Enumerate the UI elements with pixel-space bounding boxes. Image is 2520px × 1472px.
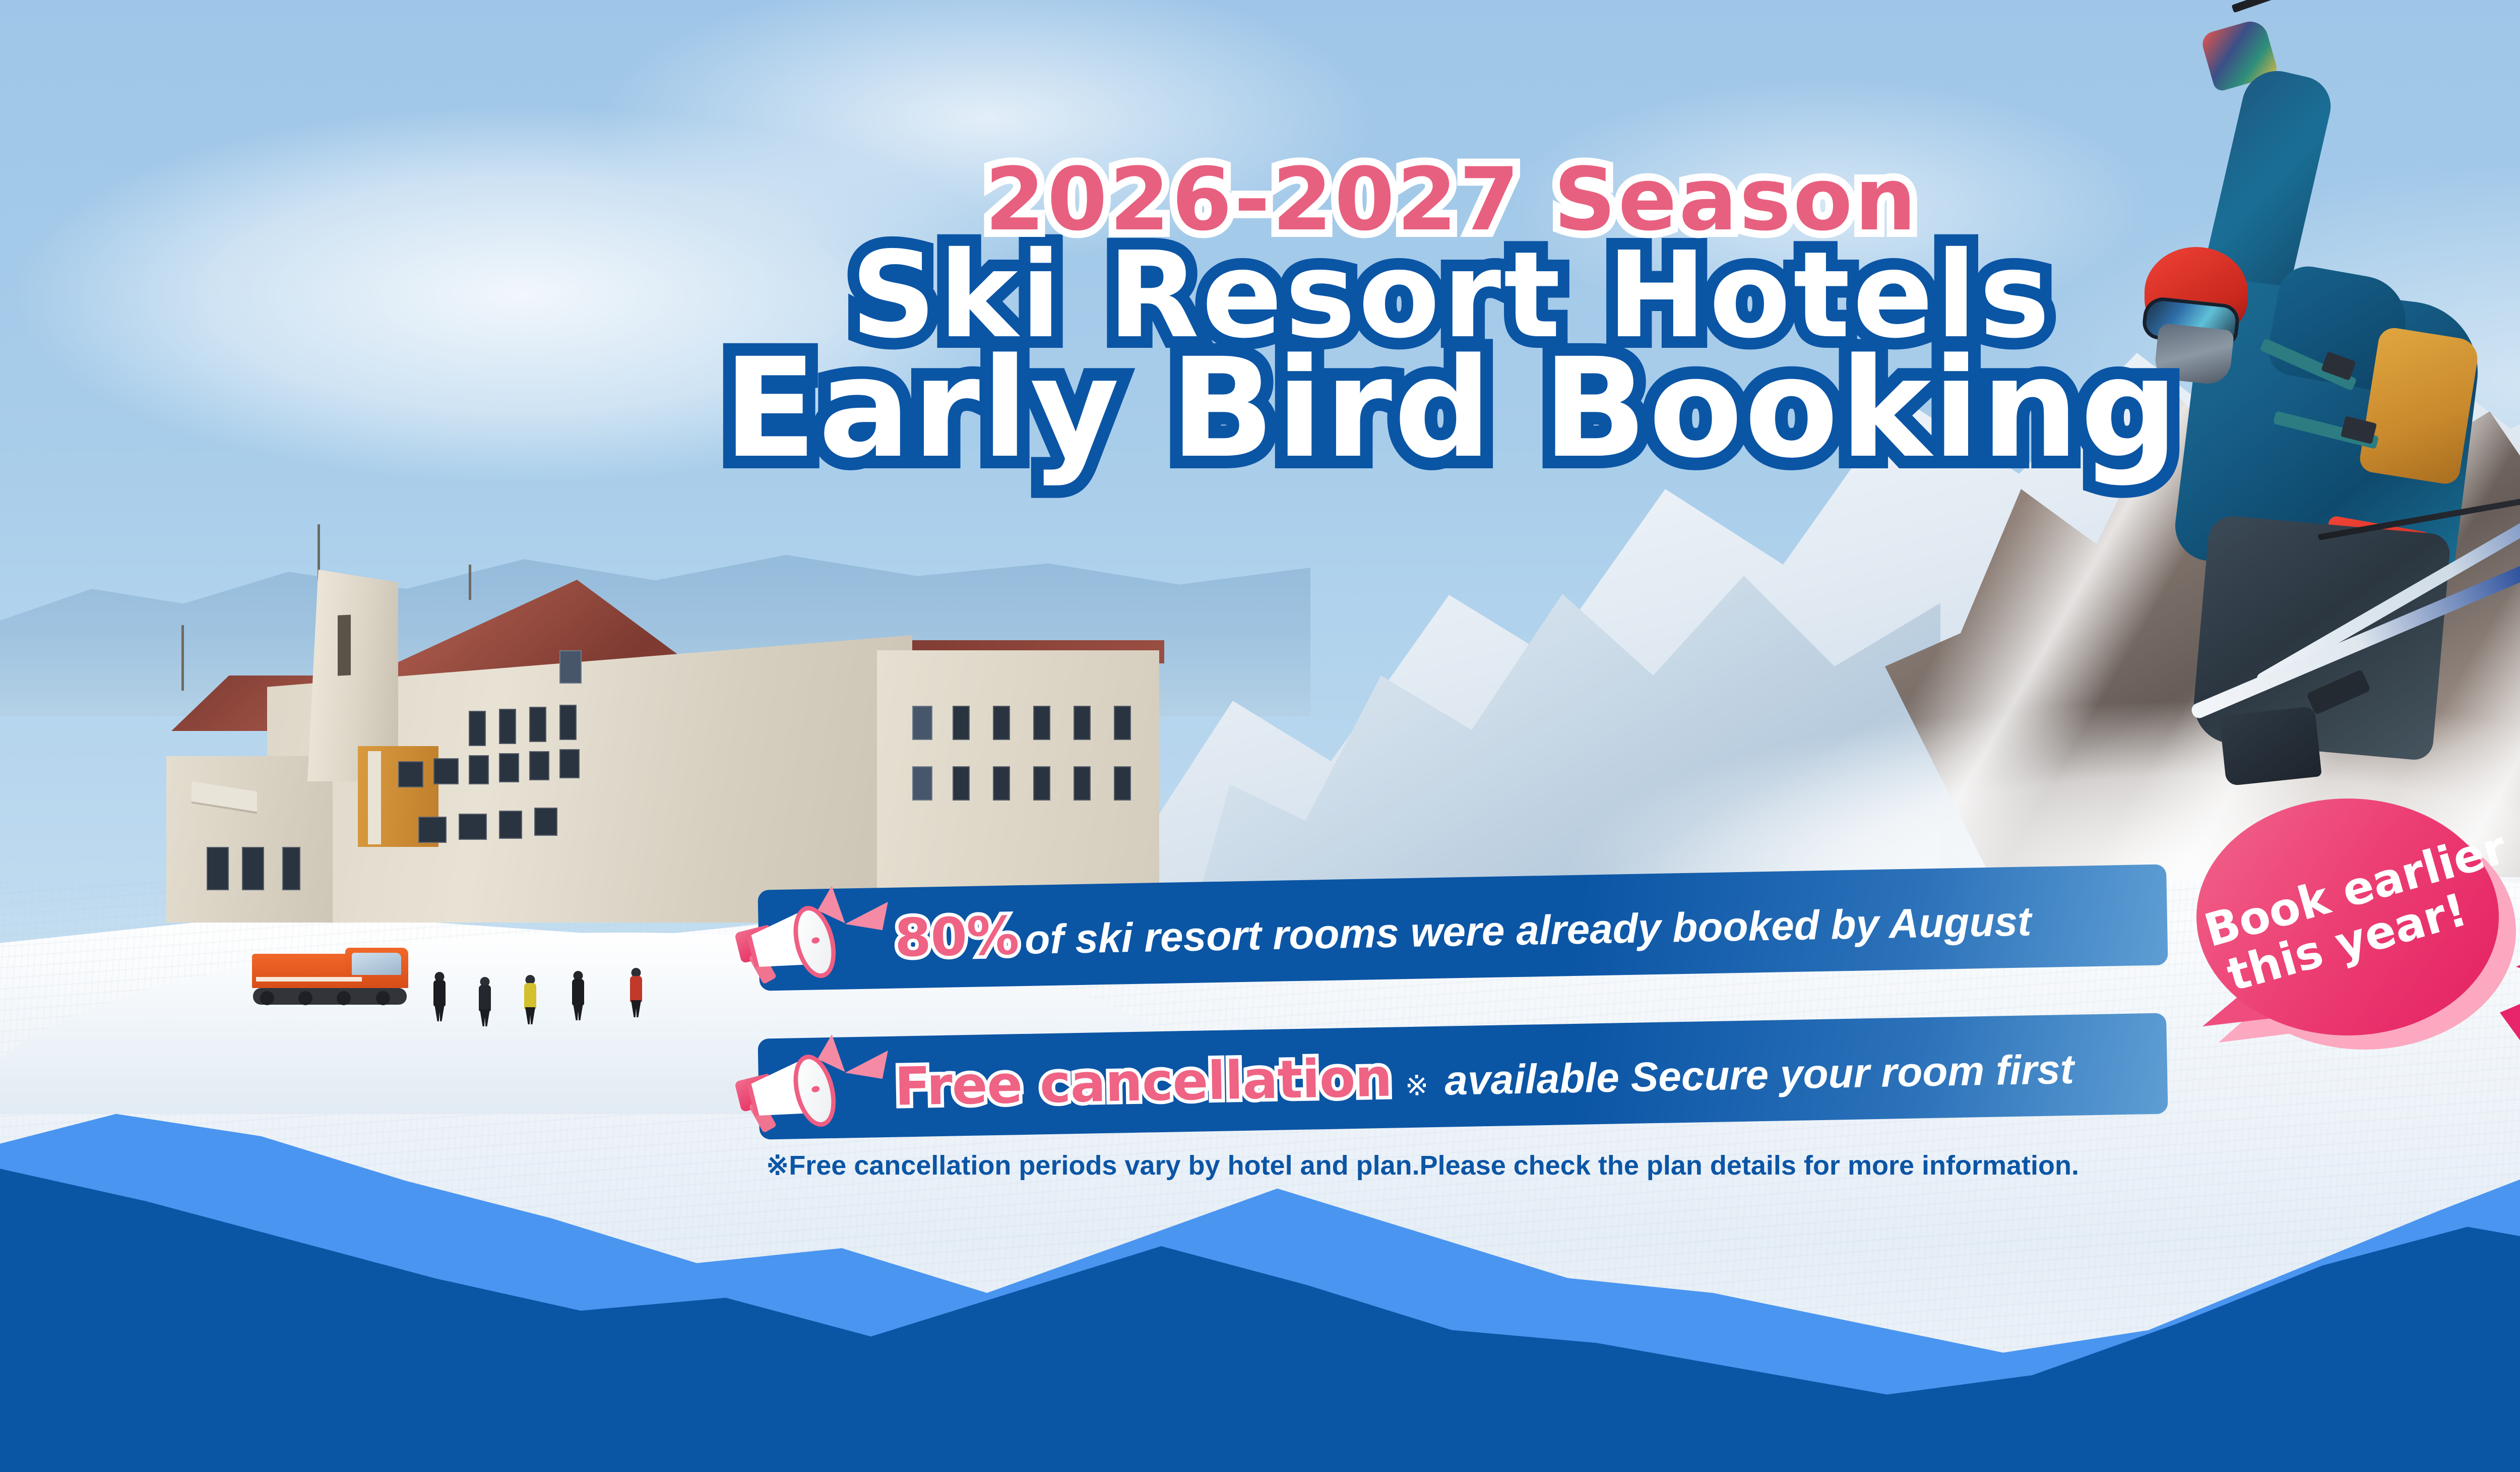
hotel-window [433, 758, 459, 784]
skier-figure [524, 975, 536, 1023]
hotel-window [559, 650, 582, 684]
skier-figure [630, 968, 642, 1016]
megaphone-icon [728, 1041, 880, 1137]
megaphone-icon [728, 893, 880, 989]
person-legs [480, 1009, 490, 1026]
callout-rest: of ski resort rooms were already booked … [1024, 898, 2032, 964]
hotel-panel-divider [368, 751, 381, 844]
megaphone-wave [845, 902, 889, 931]
hotel-window [534, 808, 557, 836]
snowcat-wheel [376, 991, 390, 1005]
hotel-window [1114, 706, 1131, 740]
headline-line-2: Early Bird Booking [0, 339, 2520, 479]
hotel-window [499, 753, 519, 782]
hotel-window [559, 705, 577, 740]
megaphone-wave [845, 1051, 889, 1080]
hotel-window [242, 847, 264, 890]
callout-text: 80% of ski resort rooms were already boo… [894, 886, 2032, 968]
hotel-window [953, 766, 970, 801]
hotel-window [529, 707, 546, 742]
hotel-window [1074, 766, 1091, 801]
skier-figure [433, 972, 446, 1020]
hotel-window [993, 766, 1010, 801]
hotel-window [459, 814, 487, 840]
hotel-window [912, 706, 932, 740]
snowcat-wheel [298, 991, 312, 1005]
person-legs [525, 1007, 535, 1024]
hotel-window [469, 755, 489, 784]
sparkle-accent-icon [2500, 997, 2520, 1042]
hotel-window [1033, 766, 1050, 801]
callout-text: Free cancellation ※ available Secure you… [894, 1034, 2074, 1118]
season-label: 2026-2027 Season [0, 156, 2520, 243]
hotel-window [207, 847, 229, 890]
skier-figure [479, 977, 491, 1025]
person-legs [573, 1003, 583, 1020]
hotel-window [282, 847, 300, 890]
reference-mark-icon: ※ [1405, 1069, 1429, 1102]
hotel-window [1114, 766, 1131, 801]
person-body [524, 983, 536, 1009]
person-legs [434, 1004, 445, 1021]
callout-rest: available Secure your room first [1444, 1046, 2074, 1105]
headline-block: 2026-2027 Season Ski Resort Hotels Early… [0, 156, 2520, 479]
person-legs [631, 1000, 641, 1017]
person-body [630, 976, 642, 1002]
person-body [572, 979, 584, 1005]
hotel-window [1033, 706, 1050, 740]
hotel-window [499, 811, 522, 839]
ski-resort-promo-banner: 2026-2027 Season Ski Resort Hotels Early… [0, 0, 2520, 1472]
footnote-disclaimer: ※Free cancellation periods vary by hotel… [766, 1149, 2278, 1181]
ski-resort-hotel-building [116, 549, 1189, 923]
hotel-window [469, 711, 486, 746]
snowcat-stripe [256, 977, 362, 982]
person-body [433, 980, 446, 1006]
hotel-window [499, 709, 516, 744]
hotel-window [1074, 706, 1091, 740]
bubble-text: Book earlier this year! [2170, 761, 2520, 1072]
person-body [479, 985, 491, 1011]
ski-boot [2219, 706, 2322, 786]
antenna-icon [469, 565, 471, 600]
snowcat-windshield [352, 953, 401, 975]
skier-figure [572, 971, 584, 1019]
hotel-window [529, 751, 549, 780]
speech-bubble: Book earlier this year! [2187, 786, 2520, 1059]
callout-highlight: Free cancellation [894, 1047, 1392, 1118]
hotel-window [398, 761, 423, 787]
hotel-window [559, 749, 580, 778]
antenna-icon [181, 625, 184, 691]
hotel-window [993, 706, 1010, 740]
snowcat-wheel [337, 991, 351, 1005]
hotel-window [953, 706, 970, 740]
snowcat-wheel [260, 991, 274, 1005]
hotel-window [912, 766, 932, 801]
hotel-window [418, 817, 447, 843]
callout-highlight: 80% [894, 905, 1019, 968]
snow-groomer-vehicle [252, 948, 418, 1016]
hotel-tower-slit [338, 615, 351, 676]
